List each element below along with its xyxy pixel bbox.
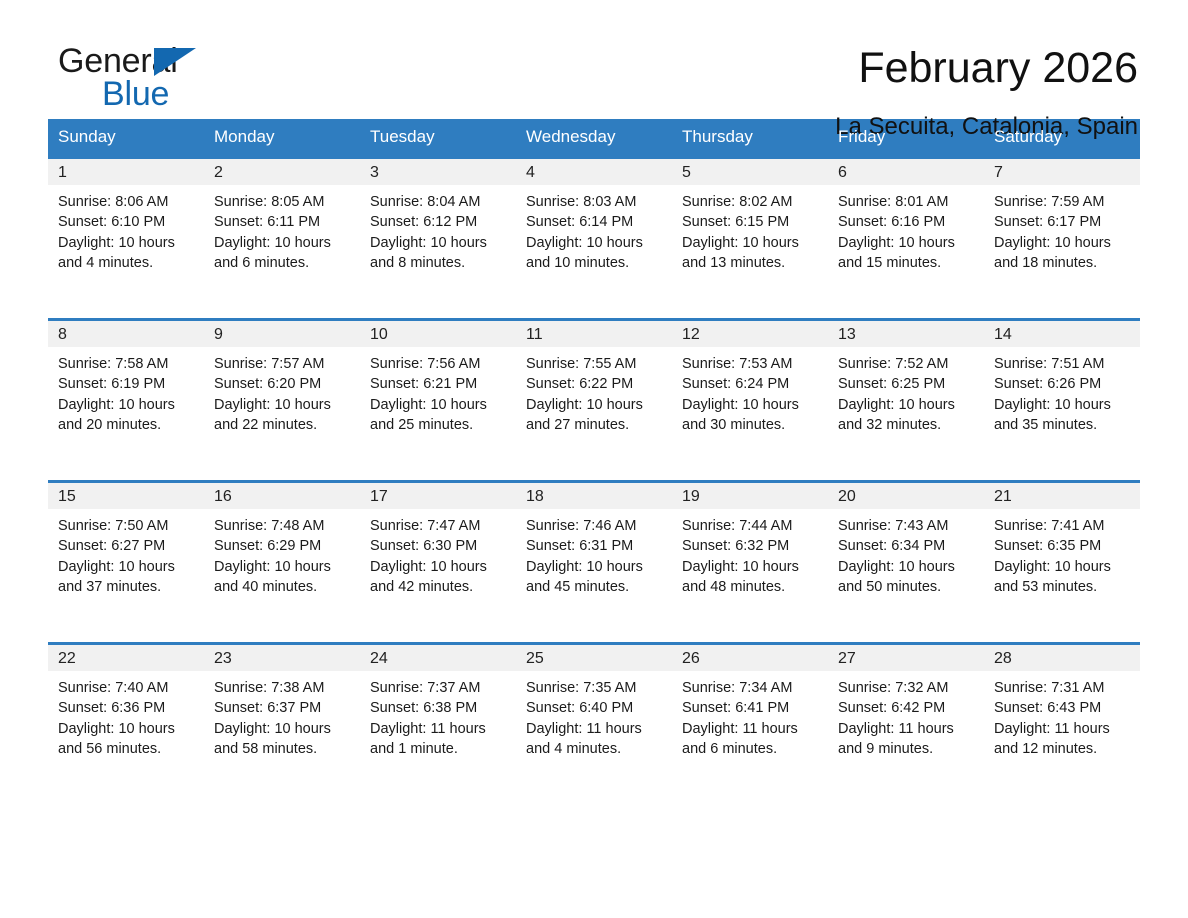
daylight-text: Daylight: 11 hours and 12 minutes. [994, 719, 1134, 760]
day-details: Sunrise: 7:40 AMSunset: 6:36 PMDaylight:… [48, 671, 204, 759]
column-header-monday: Monday [204, 119, 360, 158]
sunrise-text: Sunrise: 8:05 AM [214, 192, 354, 212]
day-number: 27 [828, 645, 984, 671]
day-details: Sunrise: 7:59 AMSunset: 6:17 PMDaylight:… [984, 185, 1140, 273]
calendar-day-cell[interactable]: 12Sunrise: 7:53 AMSunset: 6:24 PMDayligh… [672, 320, 828, 482]
calendar-day-cell[interactable]: 6Sunrise: 8:01 AMSunset: 6:16 PMDaylight… [828, 158, 984, 320]
daylight-text: Daylight: 10 hours and 10 minutes. [526, 233, 666, 274]
day-details: Sunrise: 8:02 AMSunset: 6:15 PMDaylight:… [672, 185, 828, 273]
day-details: Sunrise: 7:55 AMSunset: 6:22 PMDaylight:… [516, 347, 672, 435]
day-details: Sunrise: 7:51 AMSunset: 6:26 PMDaylight:… [984, 347, 1140, 435]
day-number: 16 [204, 483, 360, 509]
sunrise-text: Sunrise: 8:01 AM [838, 192, 978, 212]
day-details: Sunrise: 8:04 AMSunset: 6:12 PMDaylight:… [360, 185, 516, 273]
calendar-day-cell[interactable]: 4Sunrise: 8:03 AMSunset: 6:14 PMDaylight… [516, 158, 672, 320]
calendar-day-cell[interactable]: 10Sunrise: 7:56 AMSunset: 6:21 PMDayligh… [360, 320, 516, 482]
daylight-text: Daylight: 10 hours and 58 minutes. [214, 719, 354, 760]
daylight-text: Daylight: 10 hours and 42 minutes. [370, 557, 510, 598]
sunset-text: Sunset: 6:22 PM [526, 374, 666, 394]
daylight-text: Daylight: 10 hours and 35 minutes. [994, 395, 1134, 436]
day-details: Sunrise: 7:35 AMSunset: 6:40 PMDaylight:… [516, 671, 672, 759]
calendar-day-cell[interactable]: 15Sunrise: 7:50 AMSunset: 6:27 PMDayligh… [48, 482, 204, 644]
daylight-text: Daylight: 11 hours and 4 minutes. [526, 719, 666, 760]
sunset-text: Sunset: 6:34 PM [838, 536, 978, 556]
sunset-text: Sunset: 6:35 PM [994, 536, 1134, 556]
sunrise-text: Sunrise: 7:46 AM [526, 516, 666, 536]
calendar-day-cell[interactable]: 28Sunrise: 7:31 AMSunset: 6:43 PMDayligh… [984, 644, 1140, 806]
calendar-day-cell[interactable]: 2Sunrise: 8:05 AMSunset: 6:11 PMDaylight… [204, 158, 360, 320]
sunset-text: Sunset: 6:12 PM [370, 212, 510, 232]
day-number: 3 [360, 159, 516, 185]
calendar-day-cell[interactable]: 23Sunrise: 7:38 AMSunset: 6:37 PMDayligh… [204, 644, 360, 806]
sunrise-text: Sunrise: 7:48 AM [214, 516, 354, 536]
daylight-text: Daylight: 11 hours and 6 minutes. [682, 719, 822, 760]
sunset-text: Sunset: 6:36 PM [58, 698, 198, 718]
daylight-text: Daylight: 11 hours and 9 minutes. [838, 719, 978, 760]
daylight-text: Daylight: 10 hours and 6 minutes. [214, 233, 354, 274]
daylight-text: Daylight: 10 hours and 13 minutes. [682, 233, 822, 274]
page-header: General Blue February 2026 La Secuita, C… [48, 0, 1140, 106]
calendar-day-cell[interactable]: 7Sunrise: 7:59 AMSunset: 6:17 PMDaylight… [984, 158, 1140, 320]
day-details: Sunrise: 7:53 AMSunset: 6:24 PMDaylight:… [672, 347, 828, 435]
sunset-text: Sunset: 6:38 PM [370, 698, 510, 718]
sunrise-text: Sunrise: 7:41 AM [994, 516, 1134, 536]
sunrise-text: Sunrise: 7:34 AM [682, 678, 822, 698]
daylight-text: Daylight: 10 hours and 8 minutes. [370, 233, 510, 274]
sunrise-text: Sunrise: 7:57 AM [214, 354, 354, 374]
calendar-day-cell[interactable]: 9Sunrise: 7:57 AMSunset: 6:20 PMDaylight… [204, 320, 360, 482]
sunset-text: Sunset: 6:24 PM [682, 374, 822, 394]
sunrise-text: Sunrise: 7:44 AM [682, 516, 822, 536]
calendar-day-cell[interactable]: 16Sunrise: 7:48 AMSunset: 6:29 PMDayligh… [204, 482, 360, 644]
day-details: Sunrise: 7:50 AMSunset: 6:27 PMDaylight:… [48, 509, 204, 597]
day-details: Sunrise: 7:48 AMSunset: 6:29 PMDaylight:… [204, 509, 360, 597]
sunrise-text: Sunrise: 7:56 AM [370, 354, 510, 374]
column-header-tuesday: Tuesday [360, 119, 516, 158]
sunset-text: Sunset: 6:19 PM [58, 374, 198, 394]
day-number: 26 [672, 645, 828, 671]
day-number: 12 [672, 321, 828, 347]
sunset-text: Sunset: 6:43 PM [994, 698, 1134, 718]
sunset-text: Sunset: 6:14 PM [526, 212, 666, 232]
sunset-text: Sunset: 6:27 PM [58, 536, 198, 556]
calendar-day-cell[interactable]: 18Sunrise: 7:46 AMSunset: 6:31 PMDayligh… [516, 482, 672, 644]
sunset-text: Sunset: 6:30 PM [370, 536, 510, 556]
sunrise-text: Sunrise: 7:53 AM [682, 354, 822, 374]
calendar-body: 1Sunrise: 8:06 AMSunset: 6:10 PMDaylight… [48, 158, 1140, 806]
sunrise-text: Sunrise: 7:31 AM [994, 678, 1134, 698]
day-number: 9 [204, 321, 360, 347]
day-details: Sunrise: 7:44 AMSunset: 6:32 PMDaylight:… [672, 509, 828, 597]
sunrise-text: Sunrise: 8:02 AM [682, 192, 822, 212]
sunset-text: Sunset: 6:10 PM [58, 212, 198, 232]
sunset-text: Sunset: 6:25 PM [838, 374, 978, 394]
sunrise-text: Sunrise: 7:38 AM [214, 678, 354, 698]
daylight-text: Daylight: 10 hours and 48 minutes. [682, 557, 822, 598]
day-number: 1 [48, 159, 204, 185]
column-header-thursday: Thursday [672, 119, 828, 158]
day-number: 17 [360, 483, 516, 509]
day-number: 15 [48, 483, 204, 509]
day-number: 14 [984, 321, 1140, 347]
day-number: 5 [672, 159, 828, 185]
day-details: Sunrise: 7:57 AMSunset: 6:20 PMDaylight:… [204, 347, 360, 435]
day-details: Sunrise: 7:34 AMSunset: 6:41 PMDaylight:… [672, 671, 828, 759]
daylight-text: Daylight: 10 hours and 4 minutes. [58, 233, 198, 274]
calendar-day-cell[interactable]: 21Sunrise: 7:41 AMSunset: 6:35 PMDayligh… [984, 482, 1140, 644]
sunset-text: Sunset: 6:26 PM [994, 374, 1134, 394]
day-number: 21 [984, 483, 1140, 509]
calendar-day-cell[interactable]: 5Sunrise: 8:02 AMSunset: 6:15 PMDaylight… [672, 158, 828, 320]
calendar-day-cell[interactable]: 24Sunrise: 7:37 AMSunset: 6:38 PMDayligh… [360, 644, 516, 806]
day-number: 18 [516, 483, 672, 509]
sunset-text: Sunset: 6:40 PM [526, 698, 666, 718]
day-details: Sunrise: 7:46 AMSunset: 6:31 PMDaylight:… [516, 509, 672, 597]
sunrise-text: Sunrise: 7:51 AM [994, 354, 1134, 374]
sunrise-text: Sunrise: 7:35 AM [526, 678, 666, 698]
day-details: Sunrise: 7:32 AMSunset: 6:42 PMDaylight:… [828, 671, 984, 759]
sunrise-text: Sunrise: 7:59 AM [994, 192, 1134, 212]
day-details: Sunrise: 7:47 AMSunset: 6:30 PMDaylight:… [360, 509, 516, 597]
daylight-text: Daylight: 10 hours and 25 minutes. [370, 395, 510, 436]
sunrise-text: Sunrise: 7:52 AM [838, 354, 978, 374]
calendar-day-cell[interactable]: 19Sunrise: 7:44 AMSunset: 6:32 PMDayligh… [672, 482, 828, 644]
day-details: Sunrise: 8:03 AMSunset: 6:14 PMDaylight:… [516, 185, 672, 273]
calendar-week-row: 15Sunrise: 7:50 AMSunset: 6:27 PMDayligh… [48, 482, 1140, 644]
calendar-day-cell[interactable]: 17Sunrise: 7:47 AMSunset: 6:30 PMDayligh… [360, 482, 516, 644]
day-number: 19 [672, 483, 828, 509]
page-title: February 2026 [835, 42, 1138, 94]
calendar-day-cell[interactable]: 26Sunrise: 7:34 AMSunset: 6:41 PMDayligh… [672, 644, 828, 806]
sunrise-text: Sunrise: 7:43 AM [838, 516, 978, 536]
sunrise-text: Sunrise: 7:40 AM [58, 678, 198, 698]
sunrise-text: Sunrise: 7:32 AM [838, 678, 978, 698]
day-details: Sunrise: 7:31 AMSunset: 6:43 PMDaylight:… [984, 671, 1140, 759]
day-number: 4 [516, 159, 672, 185]
sunrise-text: Sunrise: 7:55 AM [526, 354, 666, 374]
triangle-logo-icon [154, 48, 196, 76]
day-number: 22 [48, 645, 204, 671]
sunrise-text: Sunrise: 7:47 AM [370, 516, 510, 536]
calendar-day-cell[interactable]: 22Sunrise: 7:40 AMSunset: 6:36 PMDayligh… [48, 644, 204, 806]
calendar-day-cell[interactable]: 11Sunrise: 7:55 AMSunset: 6:22 PMDayligh… [516, 320, 672, 482]
day-details: Sunrise: 8:06 AMSunset: 6:10 PMDaylight:… [48, 185, 204, 273]
day-details: Sunrise: 7:56 AMSunset: 6:21 PMDaylight:… [360, 347, 516, 435]
brand-name-blue: Blue [102, 75, 169, 113]
day-number: 8 [48, 321, 204, 347]
column-header-wednesday: Wednesday [516, 119, 672, 158]
daylight-text: Daylight: 11 hours and 1 minute. [370, 719, 510, 760]
daylight-text: Daylight: 10 hours and 32 minutes. [838, 395, 978, 436]
day-number: 28 [984, 645, 1140, 671]
day-number: 2 [204, 159, 360, 185]
day-details: Sunrise: 7:37 AMSunset: 6:38 PMDaylight:… [360, 671, 516, 759]
daylight-text: Daylight: 10 hours and 56 minutes. [58, 719, 198, 760]
day-number: 7 [984, 159, 1140, 185]
day-number: 10 [360, 321, 516, 347]
column-header-sunday: Sunday [48, 119, 204, 158]
day-number: 6 [828, 159, 984, 185]
day-details: Sunrise: 8:01 AMSunset: 6:16 PMDaylight:… [828, 185, 984, 273]
day-number: 23 [204, 645, 360, 671]
sunset-text: Sunset: 6:32 PM [682, 536, 822, 556]
day-details: Sunrise: 7:38 AMSunset: 6:37 PMDaylight:… [204, 671, 360, 759]
daylight-text: Daylight: 10 hours and 53 minutes. [994, 557, 1134, 598]
sunset-text: Sunset: 6:21 PM [370, 374, 510, 394]
daylight-text: Daylight: 10 hours and 30 minutes. [682, 395, 822, 436]
daylight-text: Daylight: 10 hours and 40 minutes. [214, 557, 354, 598]
sunset-text: Sunset: 6:37 PM [214, 698, 354, 718]
calendar-day-cell[interactable]: 8Sunrise: 7:58 AMSunset: 6:19 PMDaylight… [48, 320, 204, 482]
daylight-text: Daylight: 10 hours and 45 minutes. [526, 557, 666, 598]
sunset-text: Sunset: 6:41 PM [682, 698, 822, 718]
calendar-day-cell[interactable]: 14Sunrise: 7:51 AMSunset: 6:26 PMDayligh… [984, 320, 1140, 482]
calendar-day-cell[interactable]: 3Sunrise: 8:04 AMSunset: 6:12 PMDaylight… [360, 158, 516, 320]
daylight-text: Daylight: 10 hours and 18 minutes. [994, 233, 1134, 274]
daylight-text: Daylight: 10 hours and 22 minutes. [214, 395, 354, 436]
calendar-week-row: 8Sunrise: 7:58 AMSunset: 6:19 PMDaylight… [48, 320, 1140, 482]
sunrise-text: Sunrise: 7:37 AM [370, 678, 510, 698]
sunrise-text: Sunrise: 7:50 AM [58, 516, 198, 536]
calendar-day-cell[interactable]: 27Sunrise: 7:32 AMSunset: 6:42 PMDayligh… [828, 644, 984, 806]
sunset-text: Sunset: 6:20 PM [214, 374, 354, 394]
sunset-text: Sunset: 6:29 PM [214, 536, 354, 556]
sunset-text: Sunset: 6:11 PM [214, 212, 354, 232]
calendar-page: General Blue February 2026 La Secuita, C… [0, 0, 1188, 918]
calendar-day-cell[interactable]: 13Sunrise: 7:52 AMSunset: 6:25 PMDayligh… [828, 320, 984, 482]
sunset-text: Sunset: 6:15 PM [682, 212, 822, 232]
day-number: 24 [360, 645, 516, 671]
daylight-text: Daylight: 10 hours and 50 minutes. [838, 557, 978, 598]
calendar-day-cell[interactable]: 20Sunrise: 7:43 AMSunset: 6:34 PMDayligh… [828, 482, 984, 644]
day-details: Sunrise: 8:05 AMSunset: 6:11 PMDaylight:… [204, 185, 360, 273]
calendar-week-row: 22Sunrise: 7:40 AMSunset: 6:36 PMDayligh… [48, 644, 1140, 806]
generalblue-logo[interactable]: General Blue [58, 42, 218, 114]
sunset-text: Sunset: 6:17 PM [994, 212, 1134, 232]
sunrise-text: Sunrise: 7:58 AM [58, 354, 198, 374]
day-details: Sunrise: 7:43 AMSunset: 6:34 PMDaylight:… [828, 509, 984, 597]
calendar-week-row: 1Sunrise: 8:06 AMSunset: 6:10 PMDaylight… [48, 158, 1140, 320]
sunset-text: Sunset: 6:31 PM [526, 536, 666, 556]
day-details: Sunrise: 7:58 AMSunset: 6:19 PMDaylight:… [48, 347, 204, 435]
calendar-day-cell[interactable]: 25Sunrise: 7:35 AMSunset: 6:40 PMDayligh… [516, 644, 672, 806]
daylight-text: Daylight: 10 hours and 37 minutes. [58, 557, 198, 598]
day-details: Sunrise: 7:52 AMSunset: 6:25 PMDaylight:… [828, 347, 984, 435]
day-number: 25 [516, 645, 672, 671]
calendar-day-cell[interactable]: 1Sunrise: 8:06 AMSunset: 6:10 PMDaylight… [48, 158, 204, 320]
sunrise-text: Sunrise: 8:03 AM [526, 192, 666, 212]
day-number: 11 [516, 321, 672, 347]
sunrise-text: Sunrise: 8:04 AM [370, 192, 510, 212]
sunset-text: Sunset: 6:42 PM [838, 698, 978, 718]
sunrise-text: Sunrise: 8:06 AM [58, 192, 198, 212]
daylight-text: Daylight: 10 hours and 20 minutes. [58, 395, 198, 436]
day-number: 20 [828, 483, 984, 509]
daylight-text: Daylight: 10 hours and 15 minutes. [838, 233, 978, 274]
sunrise-sunset-calendar: Sunday Monday Tuesday Wednesday Thursday… [48, 119, 1140, 806]
day-number: 13 [828, 321, 984, 347]
daylight-text: Daylight: 10 hours and 27 minutes. [526, 395, 666, 436]
day-details: Sunrise: 7:41 AMSunset: 6:35 PMDaylight:… [984, 509, 1140, 597]
sunset-text: Sunset: 6:16 PM [838, 212, 978, 232]
